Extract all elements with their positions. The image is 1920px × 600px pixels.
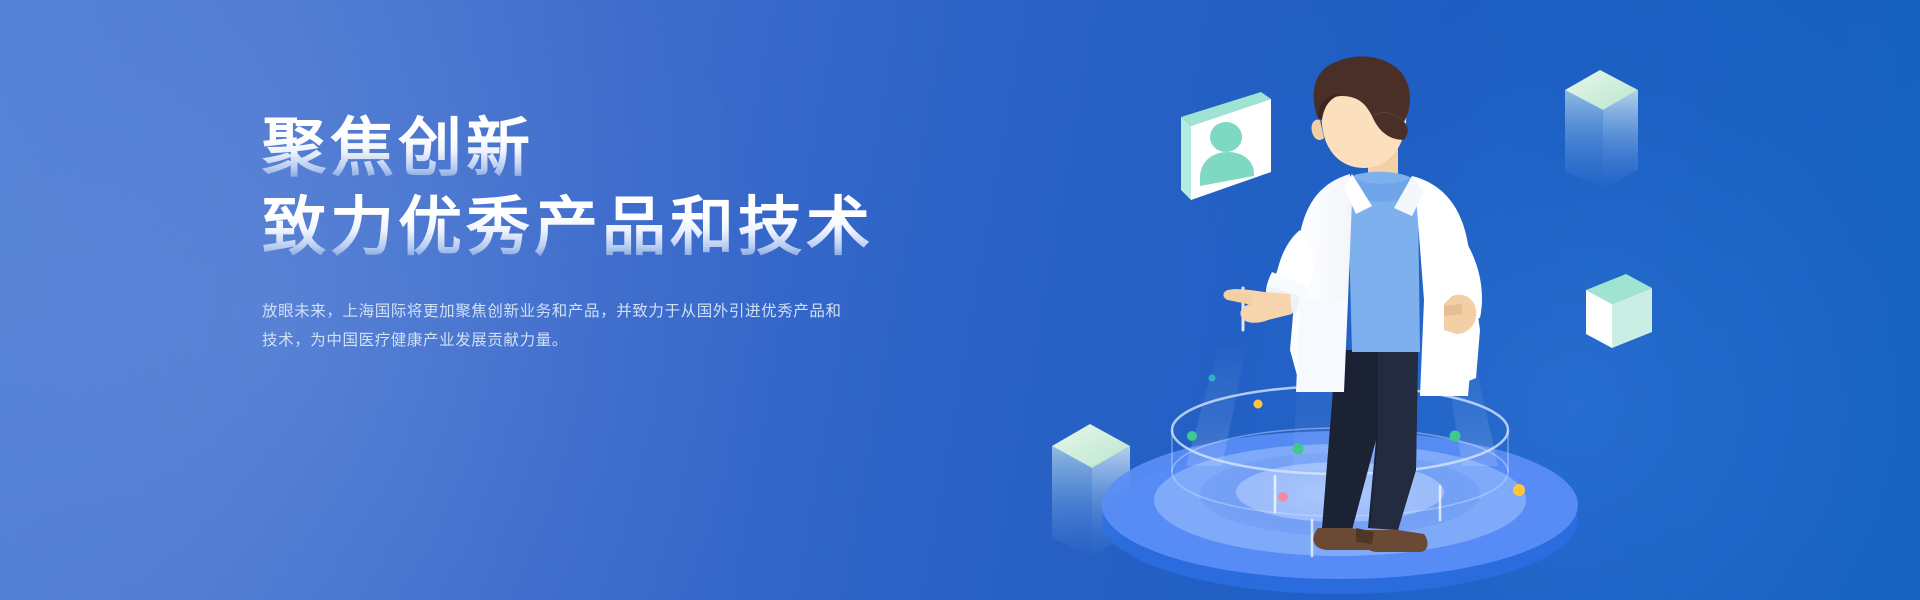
user-profile-card-icon bbox=[1181, 92, 1271, 200]
decorative-card-right-icon bbox=[1586, 274, 1652, 348]
hero-text-block: 聚焦创新 致力优秀产品和技术 放眼未来，上海国际将更加聚焦创新业务和产品，并致力… bbox=[262, 112, 962, 371]
decorative-pillar-right-icon bbox=[1565, 70, 1638, 188]
headline-line-2: 致力优秀产品和技术 bbox=[262, 191, 962, 264]
hero-banner: 聚焦创新 致力优秀产品和技术 放眼未来，上海国际将更加聚焦创新业务和产品，并致力… bbox=[0, 0, 1920, 600]
headline-line-1: 聚焦创新 bbox=[262, 112, 962, 185]
hero-subtitle: 放眼未来，上海国际将更加聚焦创新业务和产品，并致力于从国外引进优秀产品和技术，为… bbox=[262, 298, 852, 355]
